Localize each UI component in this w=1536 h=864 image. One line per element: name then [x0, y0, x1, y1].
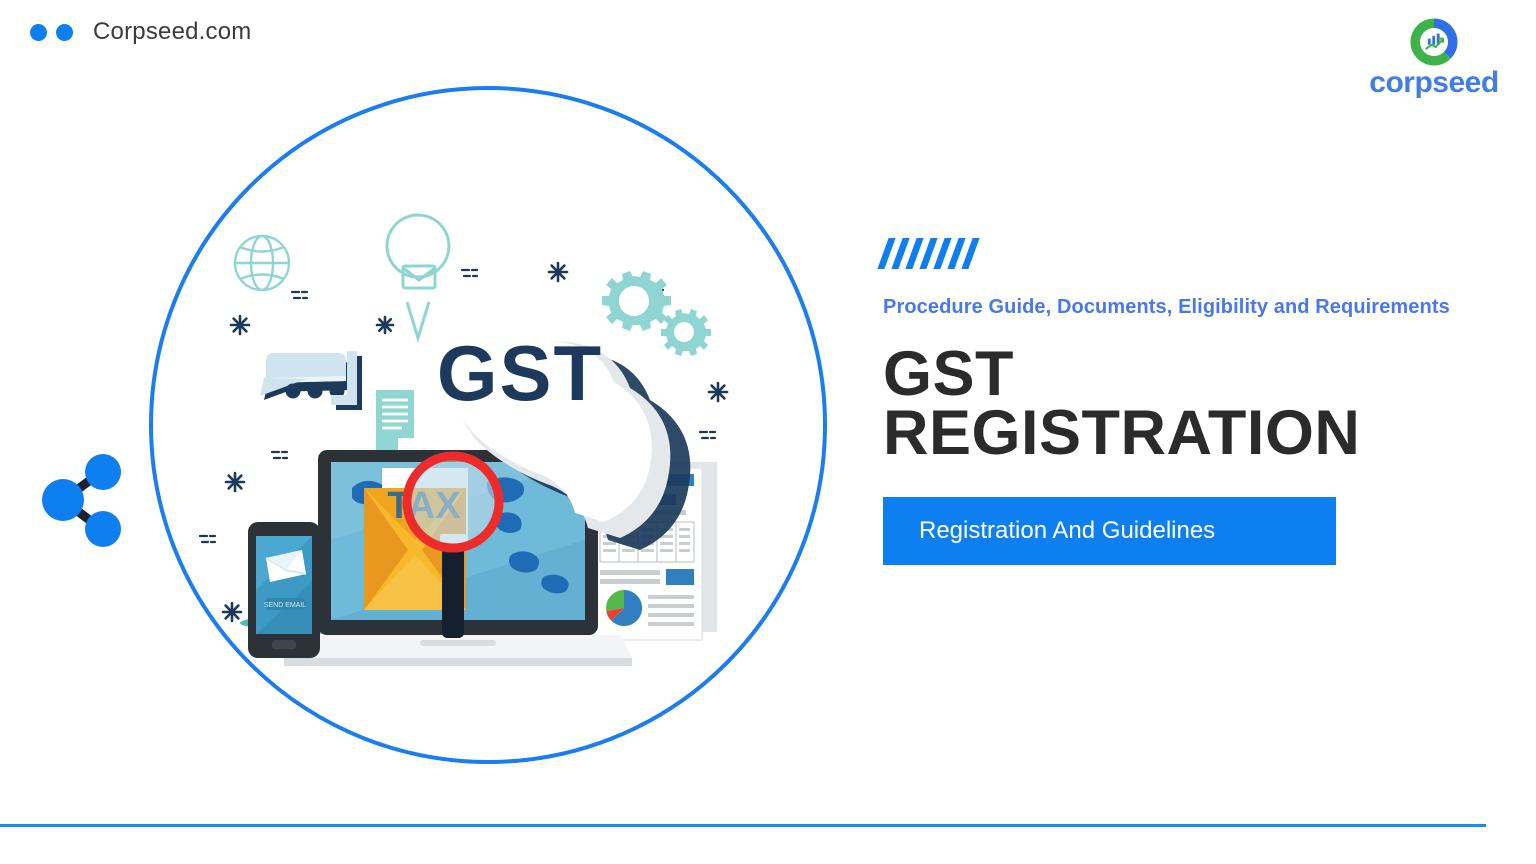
gst-bubble-label: GST: [437, 329, 603, 417]
brand-dot-2-icon: [56, 24, 73, 41]
hero-illustration: GST SEND EMAIL TAX: [0, 70, 860, 790]
phone-send-email-label: SEND EMAIL: [264, 602, 307, 609]
brand-dot-1-icon: [30, 24, 47, 41]
share-icon[interactable]: [38, 442, 124, 558]
corpseed-logo[interactable]: corpseed: [1354, 14, 1514, 106]
smartphone-icon: SEND EMAIL: [248, 522, 320, 658]
hero-text-column: Procedure Guide, Documents, Eligibility …: [883, 236, 1483, 565]
pie-chart-icon: [606, 590, 642, 626]
footer-rule: [0, 824, 1486, 827]
registration-and-guidelines-button[interactable]: Registration And Guidelines: [883, 497, 1336, 565]
slash-decoration: [883, 236, 1483, 270]
chat-bubble-icon: [260, 351, 362, 410]
document-icon: [376, 390, 414, 452]
hero-illustration-svg: GST SEND EMAIL TAX: [0, 70, 860, 790]
gears-icon: [602, 271, 711, 356]
globe-icon: [235, 236, 289, 290]
corpseed-logo-mark-icon: [1406, 14, 1462, 70]
brand-bar: Corpseed.com: [30, 18, 251, 46]
page-title-line-2: REGISTRATION: [883, 404, 1483, 463]
email-pin-icon: [387, 215, 449, 338]
corpseed-logo-word: corpseed: [1369, 66, 1498, 100]
site-name: Corpseed.com: [93, 18, 251, 46]
brand-dots-icon: [30, 24, 73, 41]
page-title: GST REGISTRATION: [883, 345, 1483, 463]
subtitle: Procedure Guide, Documents, Eligibility …: [883, 296, 1483, 319]
